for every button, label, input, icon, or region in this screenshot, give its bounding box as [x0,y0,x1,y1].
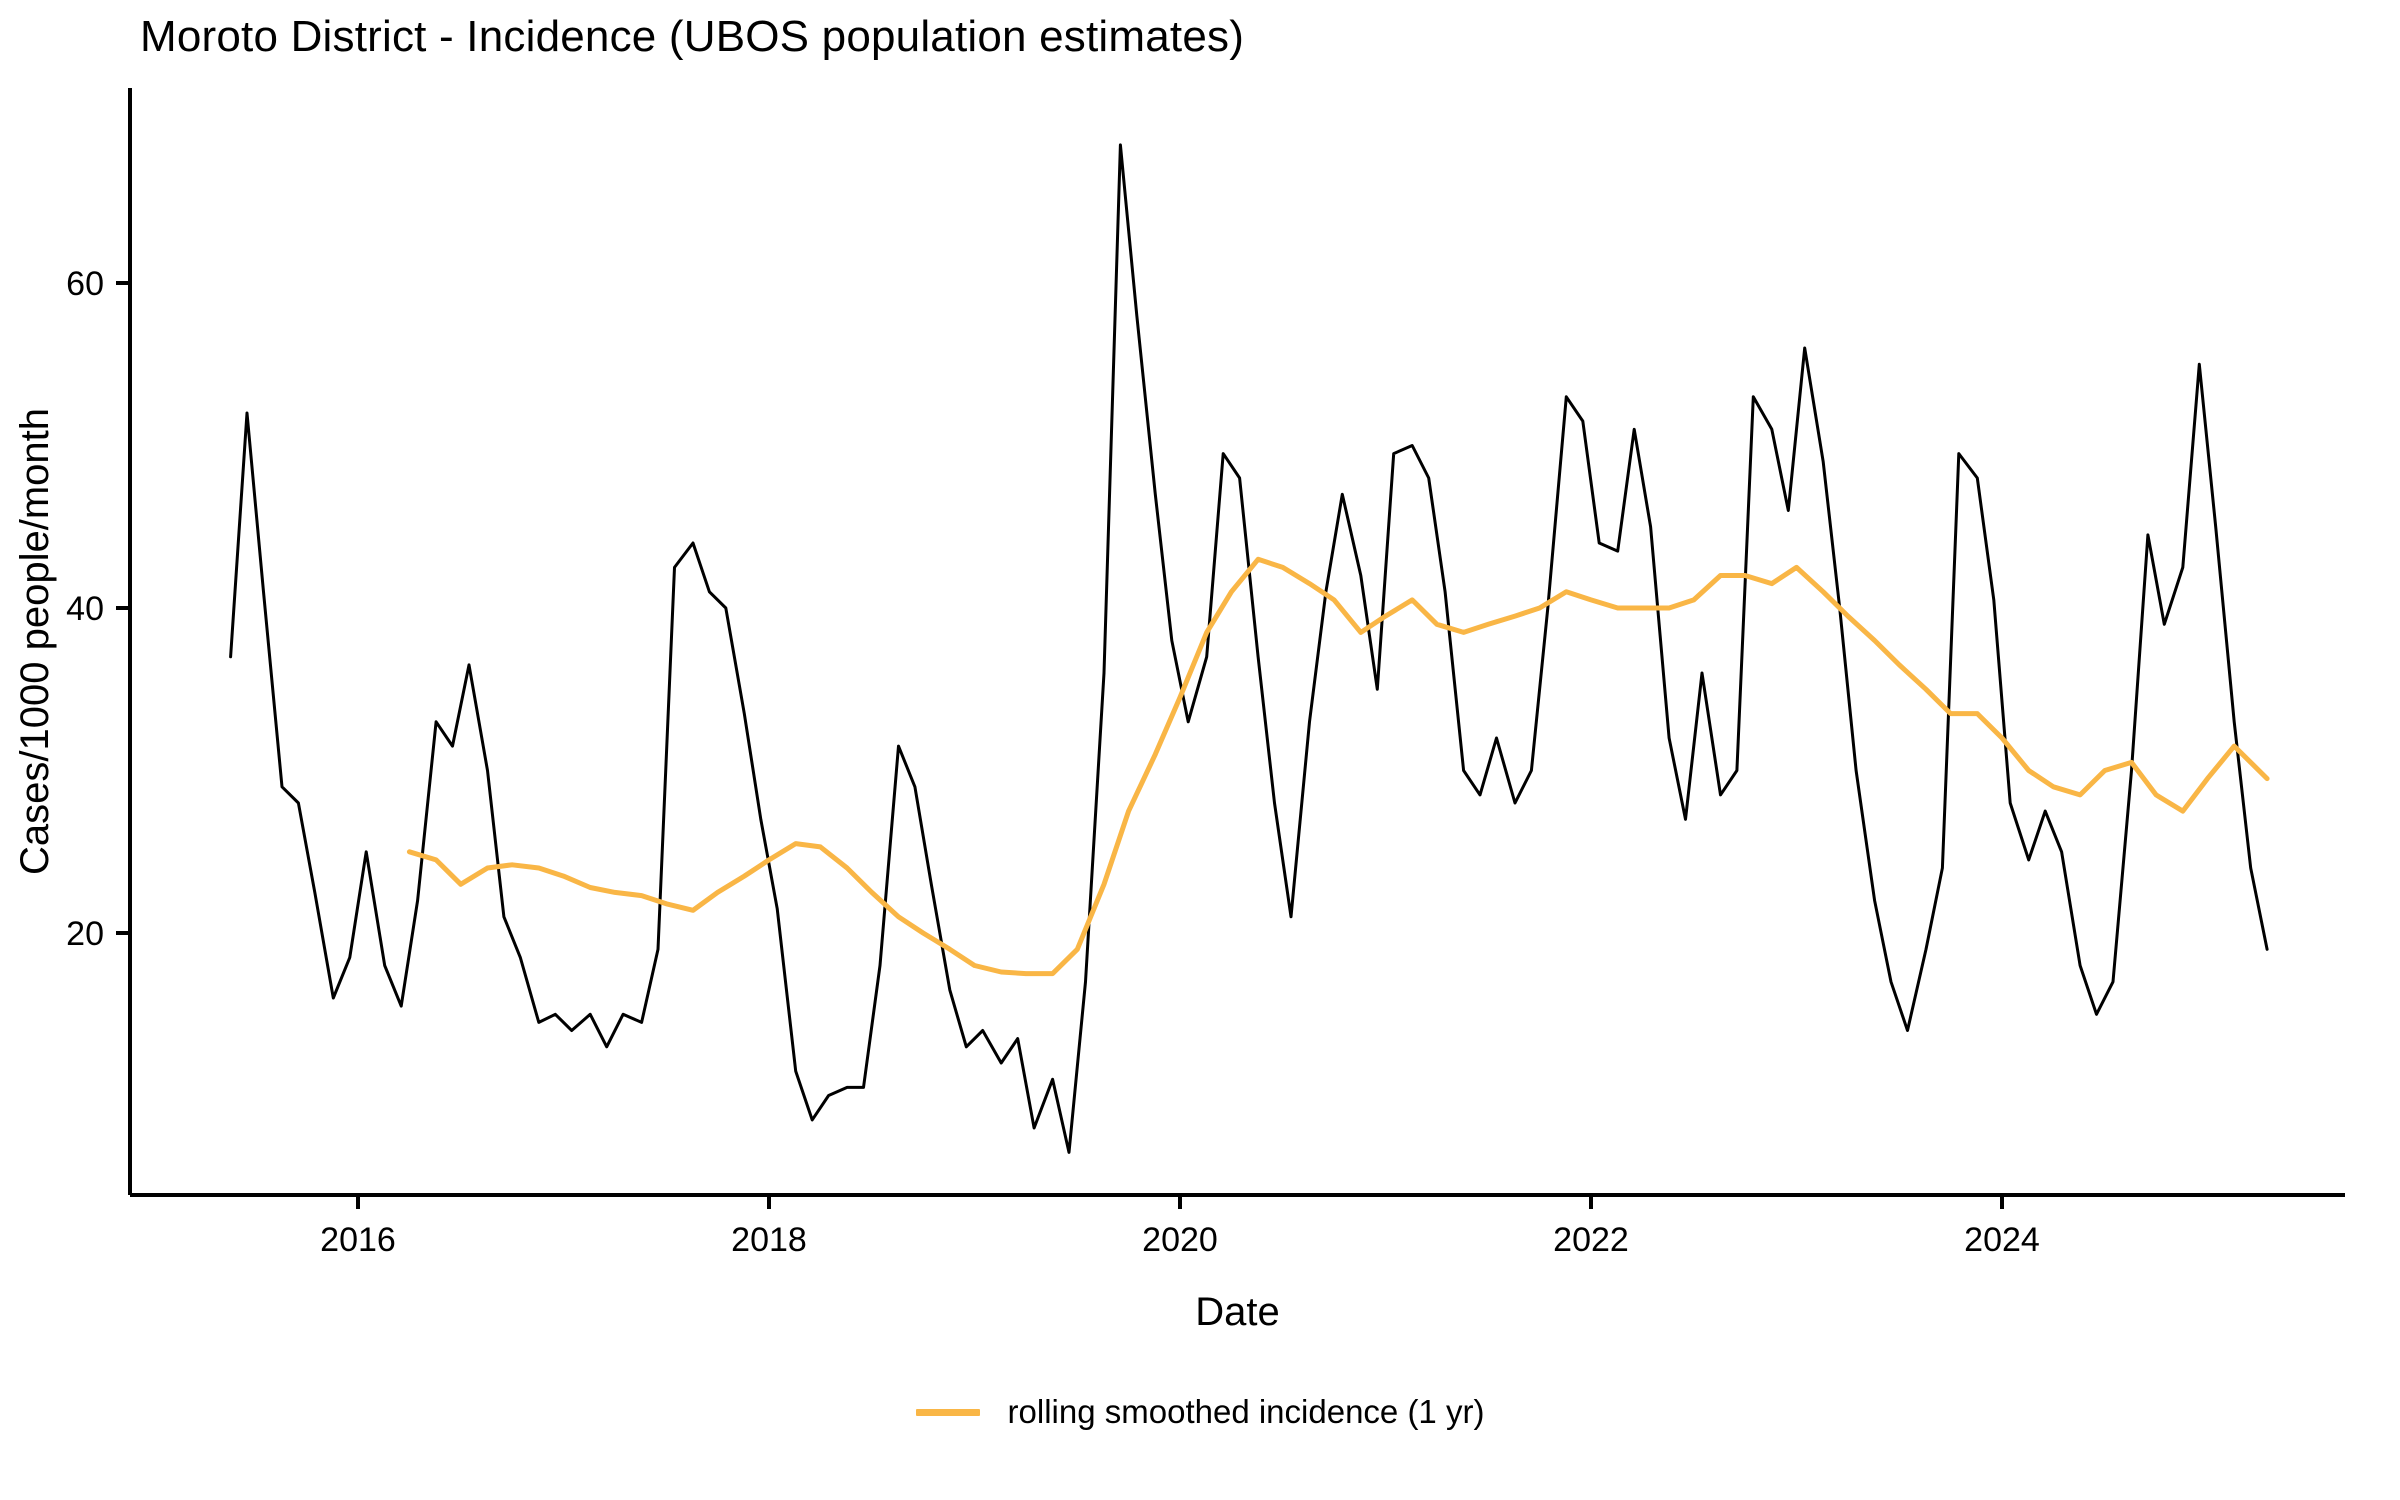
x-tick-label: 2024 [1964,1221,2040,1259]
y-tick-label: 20 [66,915,104,953]
chart-page: Moroto District - Incidence (UBOS popula… [0,0,2400,1500]
chart-legend: rolling smoothed incidence (1 yr) [0,1382,2400,1442]
legend-line-swatch [916,1409,980,1416]
x-tick-label: 2016 [320,1221,396,1259]
y-axis-title: Cases/1000 people/month [13,408,57,875]
x-tick-label: 2018 [731,1221,807,1259]
y-tick-label: 60 [66,265,104,303]
series-line-rolling-smoothed-incidence-1-yr- [409,559,2267,973]
x-axis-title: Date [1195,1290,1280,1334]
legend-item-rolling-smoothed: rolling smoothed incidence (1 yr) [916,1393,1485,1431]
x-axis-ticks: 20162018202020222024 [320,1195,2040,1259]
plot-area: 204060 20162018202020222024 Date Cases/1… [0,0,2400,1500]
x-tick-label: 2020 [1142,1221,1218,1259]
x-tick-label: 2022 [1553,1221,1629,1259]
y-tick-label: 40 [66,590,104,628]
series-line-monthly-incidence [231,145,2268,1153]
data-series-layer [231,145,2268,1153]
y-axis-ticks: 204060 [66,265,130,953]
chart-svg: 204060 20162018202020222024 Date Cases/1… [0,0,2400,1500]
legend-item-label: rolling smoothed incidence (1 yr) [1008,1393,1485,1431]
